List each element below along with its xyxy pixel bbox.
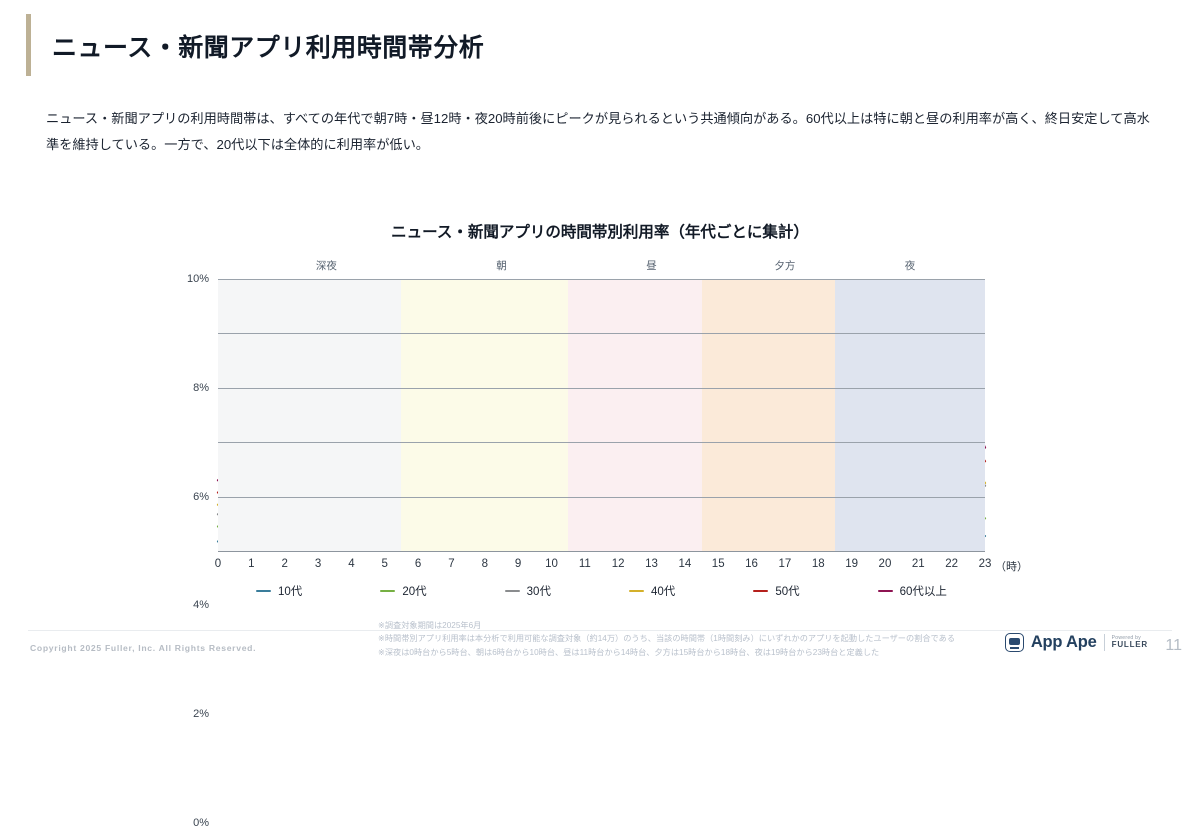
page-number: 11 [1165,637,1182,655]
legend-item-10代[interactable]: 10代 [256,583,302,599]
y-axis-tick-label: 8% [193,382,209,394]
y-axis-tick-label: 10% [187,273,209,285]
x-axis-tick-label: 14 [678,558,691,570]
copyright-text: Copyright 2025 Fuller, Inc. All Rights R… [30,643,256,653]
x-axis-tick-label: 6 [415,558,421,570]
legend-swatch-50代 [753,590,768,593]
fuller-label: FULLER [1112,641,1148,649]
footnote-line: ※時間帯別アプリ利用率は本分析で利用可能な調査対象（約14万）のうち、当該の時間… [378,632,955,645]
legend-label: 10代 [278,583,302,599]
x-axis-tick-label: 0 [215,558,221,570]
legend-swatch-60代以上 [878,590,893,593]
x-axis-tick-label: 16 [745,558,758,570]
y-axis-tick-label: 0% [193,817,209,829]
app-ape-logo-icon [1005,633,1024,652]
brand-divider [1104,634,1105,651]
y-axis-tick-label: 2% [193,708,209,720]
page-title: ニュース・新聞アプリ利用時間帯分析 [52,28,484,64]
x-axis-tick-label: 8 [482,558,488,570]
legend-swatch-10代 [256,590,271,593]
gridline: 8% [218,333,985,334]
brand-name-label: App Ape [1031,633,1097,652]
y-axis-tick-label: 4% [193,599,209,611]
legend-item-30代[interactable]: 30代 [505,583,551,599]
x-axis-tick-label: 21 [912,558,925,570]
x-axis-tick-label: 10 [545,558,558,570]
legend-label: 60代以上 [900,583,947,599]
x-axis-tick-label: 5 [382,558,388,570]
legend-label: 30代 [527,583,551,599]
x-axis-tick-label: 4 [348,558,354,570]
x-axis-tick-label: 9 [515,558,521,570]
slide-summary-text: ニュース・新聞アプリの利用時間帯は、すべての年代で朝7時・昼12時・夜20時前後… [46,106,1158,159]
chart-title: ニュース・新聞アプリの時間帯別利用率（年代ごとに集計） [0,220,1200,242]
time-band-label-昼: 昼 [646,258,657,273]
x-axis-tick-label: 2 [281,558,287,570]
gridline: 4% [218,442,985,443]
time-band-夜 [835,279,985,551]
legend-item-40代[interactable]: 40代 [629,583,675,599]
x-axis-tick-label: 18 [812,558,825,570]
legend-label: 40代 [651,583,675,599]
y-axis-tick-label: 6% [193,491,209,503]
x-axis-tick-label: 15 [712,558,725,570]
gridline: 2% [218,497,985,498]
x-axis-tick-label: 19 [845,558,858,570]
title-accent-bar [26,14,31,76]
legend-label: 50代 [775,583,799,599]
x-axis-unit-label: （時） [995,558,1028,574]
x-axis-tick-label: 23 [979,558,992,570]
x-axis-tick-label: 13 [645,558,658,570]
x-axis-tick-label: 7 [448,558,454,570]
chart-legend: 10代20代30代40代50代60代以上 [218,583,985,599]
footnote-line: ※深夜は0時台から5時台、朝は6時台から10時台、昼は11時台から14時台、夕方… [378,646,955,659]
app-ape-brand: App Ape Powered by FULLER [1005,633,1148,652]
powered-by-block: Powered by FULLER [1112,636,1148,650]
legend-swatch-20代 [380,590,395,593]
legend-item-20代[interactable]: 20代 [380,583,426,599]
chart-container: ニュース・新聞アプリの時間帯別利用率（年代ごとに集計） 深夜朝昼夕方夜0%2%4… [0,205,1200,625]
x-axis-tick-label: 1 [248,558,254,570]
gridline: 6% [218,388,985,389]
x-axis-tick-label: 12 [612,558,625,570]
legend-swatch-30代 [505,590,520,593]
legend-swatch-40代 [629,590,644,593]
time-band-label-夜: 夜 [905,258,916,273]
x-axis-tick-label: 3 [315,558,321,570]
chart-plot-area: 深夜朝昼夕方夜0%2%4%6%8%10%01234567891011121314… [218,279,985,551]
time-band-label-夕方: 夕方 [774,258,795,273]
footnote-line: ※調査対象期間は2025年6月 [378,619,955,632]
time-band-label-朝: 朝 [496,258,507,273]
x-axis-tick-label: 11 [579,558,591,570]
gridline: 0% [218,551,985,552]
time-band-label-深夜: 深夜 [316,258,337,273]
x-axis-tick-label: 20 [879,558,892,570]
legend-item-60代以上[interactable]: 60代以上 [878,583,947,599]
gridline: 10% [218,279,985,280]
legend-label: 20代 [402,583,426,599]
legend-item-50代[interactable]: 50代 [753,583,799,599]
x-axis-tick-label: 17 [779,558,792,570]
footnotes: ※調査対象期間は2025年6月※時間帯別アプリ利用率は本分析で利用可能な調査対象… [378,619,955,659]
x-axis-tick-label: 22 [945,558,958,570]
